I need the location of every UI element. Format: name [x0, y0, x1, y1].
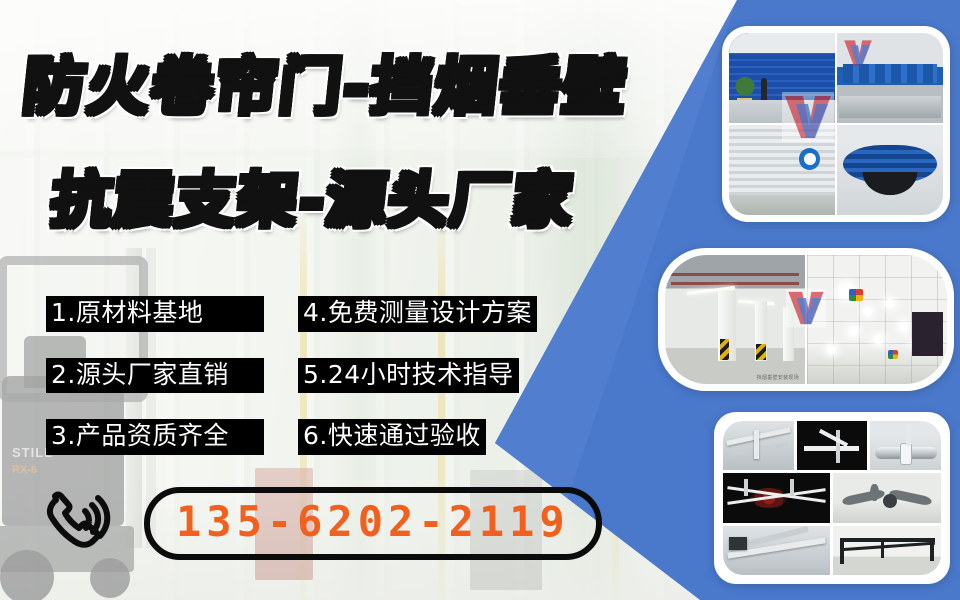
feature-item-1: 1.原材料基地: [46, 296, 264, 332]
headline-primary: 防火卷帘门-挡烟垂壁: [19, 36, 632, 126]
feature-item-4: 4.免费测量设计方案: [298, 296, 537, 332]
phone-ringing-icon: [40, 488, 118, 560]
feature-list: 1.原材料基地 4.免费测量设计方案 2.源头厂家直销 5.24小时技术指导 3…: [46, 296, 566, 481]
photo-pipe-clamp-support: [870, 421, 941, 470]
feature-item-3: 3.产品资质齐全: [46, 419, 264, 455]
photo-shutter-production-machine: [837, 33, 943, 123]
feature-row: 1.原材料基地 4.免费测量设计方案: [46, 296, 566, 332]
photo-steel-frame-room: [833, 526, 941, 575]
feature-row: 2.源头厂家直销 5.24小时技术指导: [46, 358, 566, 394]
feature-row: 3.产品资质齐全 6.快速通过验收: [46, 419, 566, 455]
headline-primary-text: 防火卷帘门-挡烟垂壁: [20, 50, 631, 123]
headline-secondary-text: 抗震支架-源头厂家: [48, 166, 578, 236]
photo-ceiling-pipe-brace: [723, 421, 794, 470]
feature-item-5: 5.24小时技术指导: [298, 358, 519, 394]
headline-secondary: 抗震支架-源头厂家: [47, 152, 579, 239]
photo-ceiling-downlights: [807, 255, 947, 384]
contact-phone-row[interactable]: 135-6202-2119: [40, 487, 602, 560]
phone-number-text: 135-6202-2119: [176, 497, 570, 546]
photo-red-fan-brace: [723, 473, 830, 522]
photo-parking-garage-columns: 挡烟垂壁安装现场: [665, 255, 805, 384]
photo-dark-brace-detail: [797, 421, 868, 470]
photo-ceiling-duct-brace: [723, 526, 830, 575]
feature-item-6: 6.快速通过验收: [298, 419, 486, 455]
fire-shutter-photo-card: [722, 26, 950, 222]
feature-item-2: 2.源头厂家直销: [46, 358, 264, 394]
seismic-bracket-photo-card: [714, 412, 950, 584]
photo-blue-shutter-coil: [837, 125, 943, 215]
phone-number-pill[interactable]: 135-6202-2119: [144, 487, 602, 560]
photo-caption-label: 挡烟垂壁安装现场: [757, 374, 799, 381]
smoke-barrier-photo-card: 挡烟垂壁安装现场: [658, 248, 954, 391]
photo-blue-roller-shutter: [729, 33, 835, 123]
photo-metal-roller-shutter: [729, 125, 835, 215]
advertisement-banner: STILL RX-6: [0, 0, 960, 600]
photo-large-ceiling-fan: [833, 473, 941, 522]
